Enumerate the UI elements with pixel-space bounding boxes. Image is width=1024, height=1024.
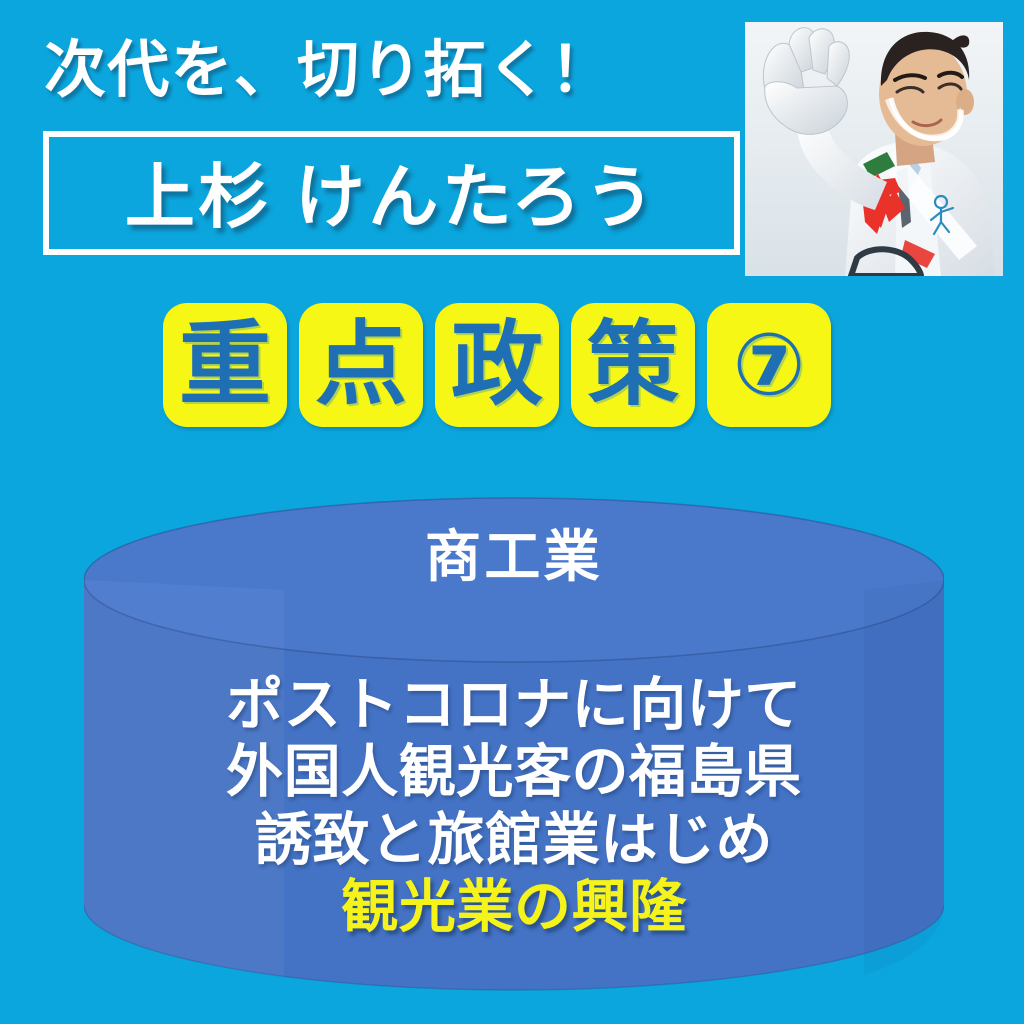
campaign-poster: 次代を、切り拓く！ 上杉 けんたろう xyxy=(0,0,1024,1024)
candidate-photo xyxy=(745,22,1003,276)
candidate-name-text: 上杉 けんたろう xyxy=(125,141,658,242)
policy-tile-3: 政 xyxy=(435,303,559,427)
cylinder-title: 商工業 xyxy=(84,512,944,593)
cylinder-body-text: ポストコロナに向けて 外国人観光客の福島県 誘致と旅館業はじめ 観光業の興隆 xyxy=(84,672,944,941)
candidate-name-box: 上杉 けんたろう xyxy=(43,131,740,255)
policy-number-label: ⑦ xyxy=(733,322,806,408)
policy-tile-2: 点 xyxy=(299,303,423,427)
policy-tile-1-label: 重 xyxy=(179,319,271,411)
policy-tile-4: 策 xyxy=(571,303,695,427)
policy-tile-2-label: 点 xyxy=(315,319,407,411)
policy-tile-4-label: 策 xyxy=(587,319,679,411)
candidate-photo-illustration xyxy=(745,22,1003,276)
body-line-2: 外国人観光客の福島県 xyxy=(84,739,944,806)
policy-badge-row: 重 点 政 策 ⑦ xyxy=(163,303,831,427)
body-line-1: ポストコロナに向けて xyxy=(84,672,944,739)
body-line-4-highlight: 観光業の興隆 xyxy=(84,874,944,941)
policy-tile-3-label: 政 xyxy=(451,319,543,411)
policy-tile-5-number: ⑦ xyxy=(707,303,831,427)
slogan-text: 次代を、切り拓く！ xyxy=(44,38,724,103)
policy-tile-1: 重 xyxy=(163,303,287,427)
body-line-3: 誘致と旅館業はじめ xyxy=(84,807,944,874)
